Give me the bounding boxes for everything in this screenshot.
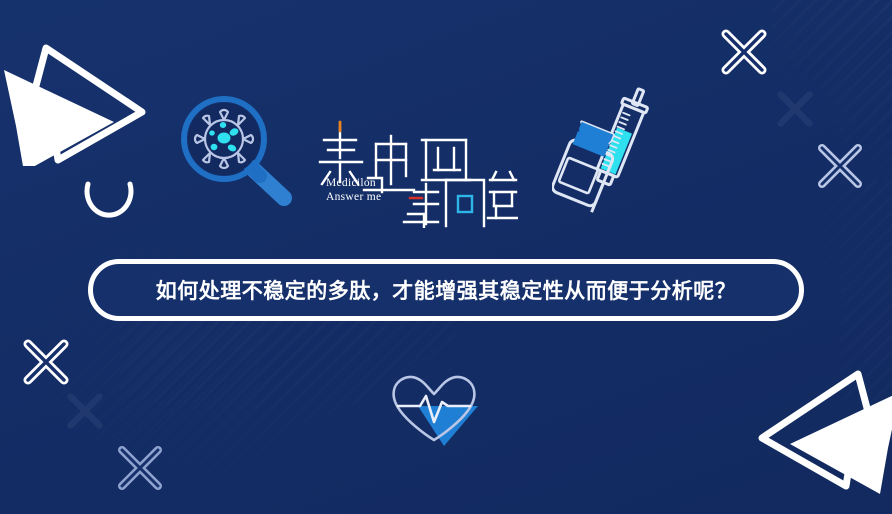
x-mark-right bbox=[814, 140, 866, 192]
question-text: 如何处理不稳定的多肽，才能增强其稳定性从而便于分析呢？ bbox=[156, 275, 737, 305]
magnifier-virus-icon bbox=[176, 92, 296, 212]
magnifier-handle-icon bbox=[250, 166, 284, 198]
question-banner: 如何处理不稳定的多肽，才能增强其稳定性从而便于分析呢？ bbox=[88, 259, 804, 321]
arc-u-left bbox=[80, 178, 138, 234]
brand-logo: Medicilon Answer me bbox=[318, 118, 518, 228]
triangle-pair-top-left bbox=[2, 26, 152, 166]
heartbeat-icon bbox=[382, 368, 486, 448]
ghost-x-upper-right bbox=[774, 88, 816, 130]
x-mark-lower-left bbox=[114, 442, 166, 494]
logo-brand-name: Medicilon bbox=[326, 176, 381, 190]
x-mark-bottom-left bbox=[20, 336, 72, 388]
stripes-top-right bbox=[772, 0, 892, 180]
heart-triangle-accent bbox=[418, 406, 478, 446]
triangle-pair-bottom-right bbox=[752, 366, 892, 514]
ghost-x-lower-left bbox=[64, 390, 106, 432]
vial-icon bbox=[552, 121, 622, 208]
logo-tagline: Answer me bbox=[326, 190, 381, 204]
syringe-vial-icon bbox=[552, 78, 662, 238]
banner-canvas: Medicilon Answer me 如何处理不稳定的多肽，才能增强其稳定性从… bbox=[0, 0, 892, 514]
logo-glyphs-icon bbox=[318, 118, 518, 228]
x-mark-top-right bbox=[718, 26, 770, 78]
logo-english-text: Medicilon Answer me bbox=[326, 176, 381, 204]
